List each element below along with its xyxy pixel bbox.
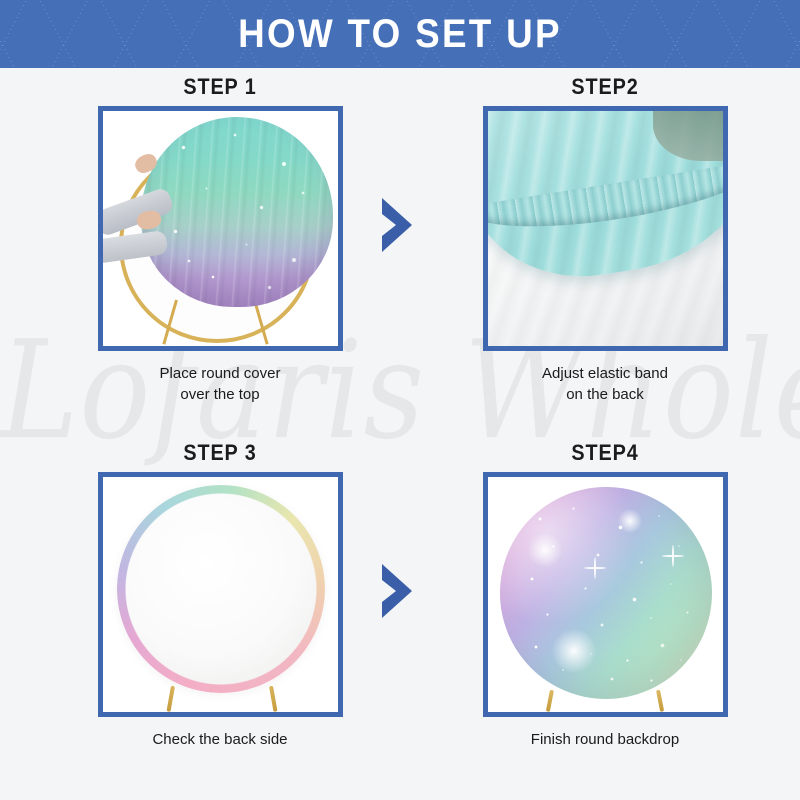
gold-stand-leg-left (545, 690, 553, 712)
step-card-4: STEP4 Finish round backdrop (440, 434, 770, 800)
steps-row-1: STEP 1 Place round cover (0, 68, 800, 434)
light-glow-b (618, 509, 642, 533)
step-label-2: STEP2 (457, 68, 754, 106)
step-caption-3-line1: Check the back side (55, 729, 385, 750)
steps-grid: STEP 1 Place round cover (0, 68, 800, 800)
sparkle-star-a (584, 557, 606, 579)
step-label-4: STEP4 (457, 434, 754, 472)
step-image-frame-4 (483, 472, 728, 717)
chevron-right-icon-row1 (378, 196, 418, 254)
step-label-3: STEP 3 (72, 434, 369, 472)
chevron-right-icon-row2 (378, 562, 418, 620)
gold-stand-leg-right (656, 690, 664, 712)
step-illustration-4 (488, 477, 723, 712)
step-illustration-2 (488, 111, 723, 346)
sparkle-star-b (662, 545, 684, 567)
step-label-1: STEP 1 (72, 68, 369, 106)
step-image-frame-3 (98, 472, 343, 717)
step-card-1: STEP 1 Place round cover (55, 68, 385, 434)
step-caption-3: Check the back side (55, 729, 385, 750)
step-caption-4-line1: Finish round backdrop (440, 729, 770, 750)
step-caption-2: Adjust elastic band on the back (440, 363, 770, 405)
header-banner: HOW TO SET UP (0, 0, 800, 68)
page-title: HOW TO SET UP (32, 0, 768, 68)
finished-backdrop-circle (500, 487, 712, 699)
gold-stand-leg-right (269, 686, 277, 712)
gold-stand-leg-left (166, 686, 174, 712)
step-card-3: STEP 3 Check the back side (55, 434, 385, 800)
step-card-2: STEP2 Adjust elastic band on the back (440, 68, 770, 434)
step-caption-1-line2: over the top (55, 384, 385, 405)
step-caption-2-line1: Adjust elastic band (440, 363, 770, 384)
step-caption-1-line1: Place round cover (55, 363, 385, 384)
step-image-frame-2 (483, 106, 728, 351)
star-speckles (500, 487, 712, 699)
step-image-frame-1 (98, 106, 343, 351)
step-caption-1: Place round cover over the top (55, 363, 385, 405)
step-illustration-3 (103, 477, 338, 712)
step-caption-4: Finish round backdrop (440, 729, 770, 750)
light-glow-c (552, 629, 596, 673)
light-glow-a (528, 533, 562, 567)
pastel-rainbow-rim (117, 485, 325, 693)
step-caption-2-line2: on the back (440, 384, 770, 405)
steps-row-2: STEP 3 Check the back side (0, 434, 800, 800)
step-illustration-1 (103, 111, 338, 346)
